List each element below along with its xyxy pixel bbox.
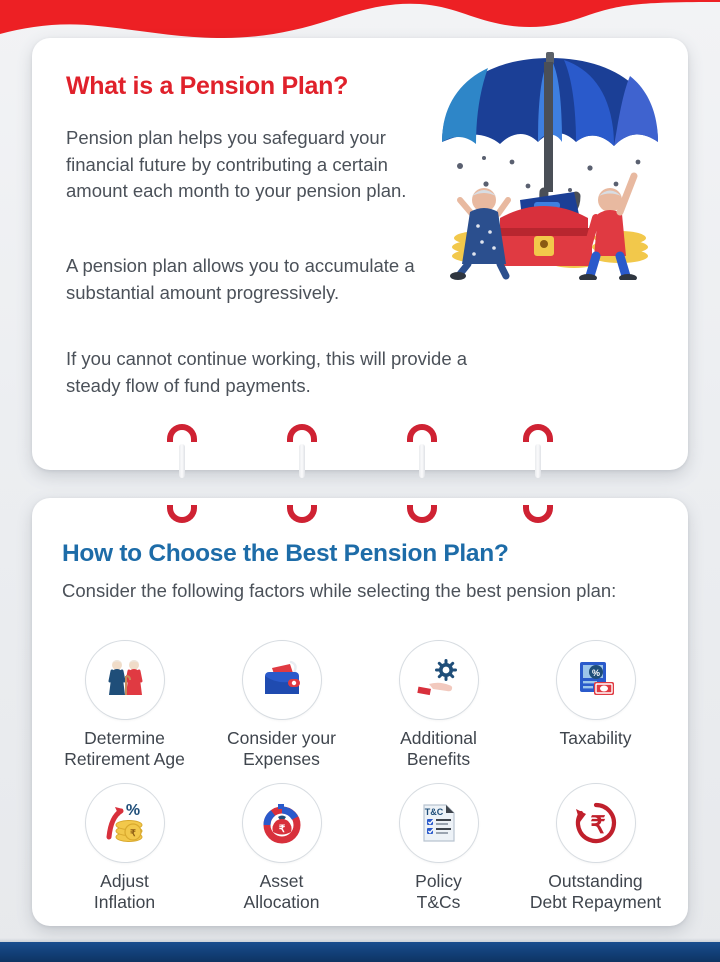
svg-text:%: % [125,802,139,819]
factor-label: Outstanding Debt Repayment [530,871,661,913]
umbrella-protecting-savings-illustration [424,50,676,280]
wallet-icon [242,640,322,720]
factor-item-determine-retirement-age[interactable]: Determine Retirement Age [46,640,203,783]
svg-text:₹: ₹ [590,812,605,839]
factor-label: Policy T&Cs [415,871,462,913]
svg-text:₹: ₹ [130,828,136,838]
factor-item-asset-allocation[interactable]: ₹ Asset Allocation [203,783,360,926]
factor-item-policy-tcs[interactable]: T&C [360,783,517,926]
svg-text:₹: ₹ [278,824,285,835]
factor-label: Determine Retirement Age [64,728,185,770]
factor-item-additional-benefits[interactable]: Additional Benefits [360,640,517,783]
infographic-page: What is a Pension Plan? Pension plan hel… [0,0,720,962]
rupee-circular-arrow-icon: ₹ [556,783,636,863]
paragraph-1: Pension plan helps you safeguard your fi… [66,125,426,205]
paragraph-2: A pension plan allows you to accumulate … [66,253,426,306]
svg-text:T&C: T&C [424,807,443,817]
pension-definition-card: What is a Pension Plan? Pension plan hel… [32,38,688,470]
donut-chart-money-bag-icon: ₹ [242,783,322,863]
factor-label: Additional Benefits [400,728,477,770]
tax-document-money-icon: % [556,640,636,720]
bottom-blue-bar [0,942,720,962]
inflation-arrow-coins-icon: % ₹ [85,783,165,863]
factor-item-taxability[interactable]: % Taxability [517,640,674,783]
factor-label: Adjust Inflation [94,871,155,913]
page-title: What is a Pension Plan? [66,72,348,101]
factor-label: Asset Allocation [244,871,320,913]
hand-holding-benefit-icon [399,640,479,720]
factor-item-outstanding-debt-repayment[interactable]: ₹ Outstanding Debt Repayment [517,783,674,926]
section-title: How to Choose the Best Pension Plan? [62,540,509,568]
factor-label: Consider your Expenses [227,728,336,770]
svg-text:%: % [591,668,599,678]
paragraph-3: If you cannot continue working, this wil… [66,346,486,399]
factor-label: Taxability [560,728,632,749]
factor-item-adjust-inflation[interactable]: % ₹ Adjust Inflation [46,783,203,926]
how-to-choose-card: How to Choose the Best Pension Plan? Con… [32,498,688,926]
factor-item-consider-your-expenses[interactable]: Consider your Expenses [203,640,360,783]
terms-conditions-checklist-icon: T&C [399,783,479,863]
factors-grid: Determine Retirement Age Consider your E… [46,640,674,926]
elderly-couple-icon [85,640,165,720]
section-subtext: Consider the following factors while sel… [62,578,622,604]
